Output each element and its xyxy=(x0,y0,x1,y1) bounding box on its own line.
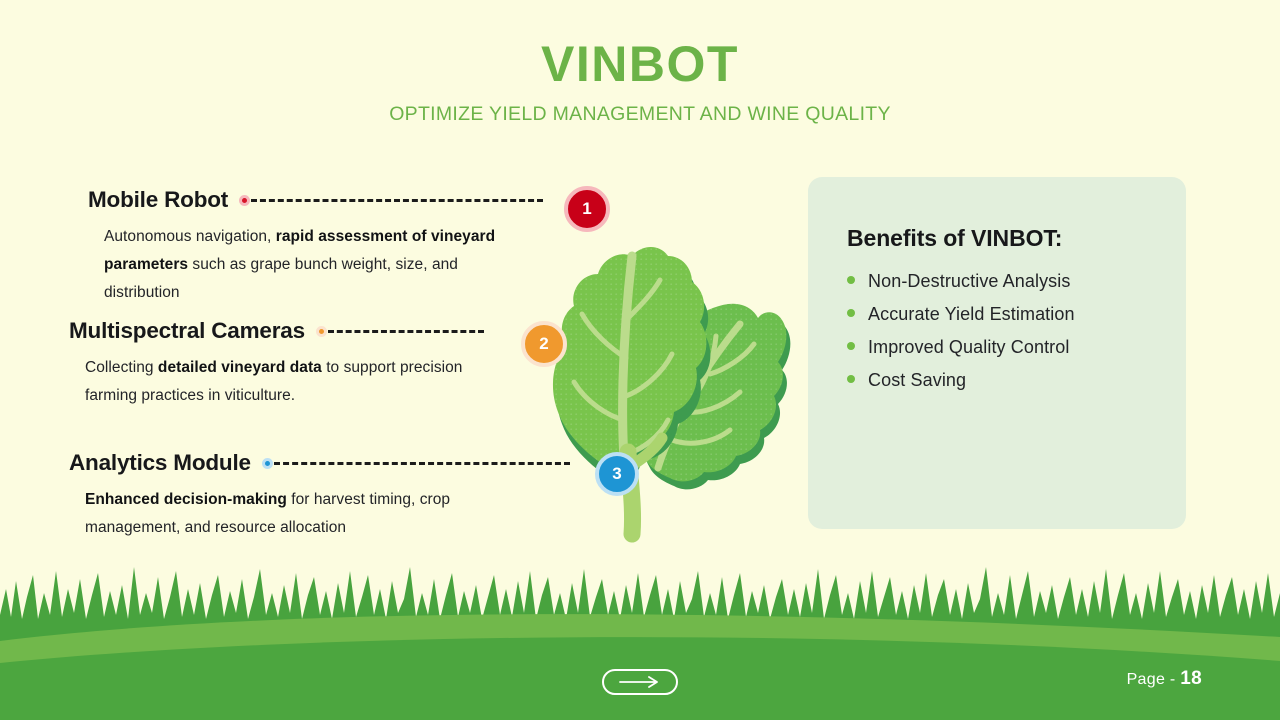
bullet-icon xyxy=(847,309,855,317)
bullet-icon xyxy=(847,276,855,284)
dashed-line xyxy=(328,330,484,333)
page-title: VINBOT xyxy=(0,38,1280,91)
benefits-title: Benefits of VINBOT: xyxy=(847,225,1186,252)
marker-1[interactable]: 1 xyxy=(564,186,610,232)
slide-canvas: VINBOT OPTIMIZE YIELD MANAGEMENT AND WIN… xyxy=(0,0,1280,720)
benefits-card: Benefits of VINBOT: Non-Destructive Anal… xyxy=(808,177,1186,529)
benefit-item: Accurate Yield Estimation xyxy=(847,304,1186,325)
page-number-label: Page - 18 xyxy=(1127,668,1202,690)
text-run: Autonomous navigation, xyxy=(104,228,276,245)
dashed-line xyxy=(274,462,570,465)
feature-analytics-module: Analytics Module Enhanced decision-makin… xyxy=(69,448,639,542)
page-prefix: Page - xyxy=(1127,671,1181,688)
benefit-item: Non-Destructive Analysis xyxy=(847,271,1186,292)
text-run: Collecting xyxy=(85,359,158,376)
feature-description: Enhanced decision-making for harvest tim… xyxy=(85,486,515,542)
marker-2[interactable]: 2 xyxy=(521,321,567,367)
text-run-bold: Enhanced decision-making xyxy=(85,491,287,508)
connector-line-3 xyxy=(262,458,570,469)
feature-description: Collecting detailed vineyard data to sup… xyxy=(85,354,485,410)
feature-title: Mobile Robot xyxy=(88,187,228,213)
marker-number: 3 xyxy=(612,464,621,484)
arrow-right-icon xyxy=(618,676,662,688)
connector-dot-icon xyxy=(262,458,273,469)
feature-title: Analytics Module xyxy=(69,450,251,476)
feature-list: Mobile Robot Autonomous navigation, rapi… xyxy=(0,185,640,555)
benefit-label: Non-Destructive Analysis xyxy=(868,271,1070,292)
marker-3[interactable]: 3 xyxy=(595,452,639,496)
feature-heading-row: Mobile Robot xyxy=(88,185,628,215)
page-number: 18 xyxy=(1180,668,1202,689)
benefit-item: Cost Saving xyxy=(847,370,1186,391)
connector-dot-icon xyxy=(316,326,327,337)
feature-description: Autonomous navigation, rapid assessment … xyxy=(104,223,524,307)
feature-mobile-robot: Mobile Robot Autonomous navigation, rapi… xyxy=(88,185,628,307)
benefit-item: Improved Quality Control xyxy=(847,337,1186,358)
feature-heading-row: Analytics Module xyxy=(69,448,639,478)
marker-number: 1 xyxy=(582,199,591,219)
text-run-bold: detailed vineyard data xyxy=(158,359,322,376)
page-subtitle: OPTIMIZE YIELD MANAGEMENT AND WINE QUALI… xyxy=(0,103,1280,126)
next-slide-button[interactable] xyxy=(602,669,678,695)
bullet-icon xyxy=(847,342,855,350)
connector-dot-icon xyxy=(239,195,250,206)
connector-line-1 xyxy=(239,195,543,206)
connector-line-2 xyxy=(316,326,484,337)
benefit-label: Cost Saving xyxy=(868,370,966,391)
slide-header: VINBOT OPTIMIZE YIELD MANAGEMENT AND WIN… xyxy=(0,38,1280,126)
marker-number: 2 xyxy=(539,334,548,354)
benefit-label: Accurate Yield Estimation xyxy=(868,304,1075,325)
benefit-label: Improved Quality Control xyxy=(868,337,1069,358)
dashed-line xyxy=(251,199,543,202)
bullet-icon xyxy=(847,375,855,383)
feature-title: Multispectral Cameras xyxy=(69,318,305,344)
